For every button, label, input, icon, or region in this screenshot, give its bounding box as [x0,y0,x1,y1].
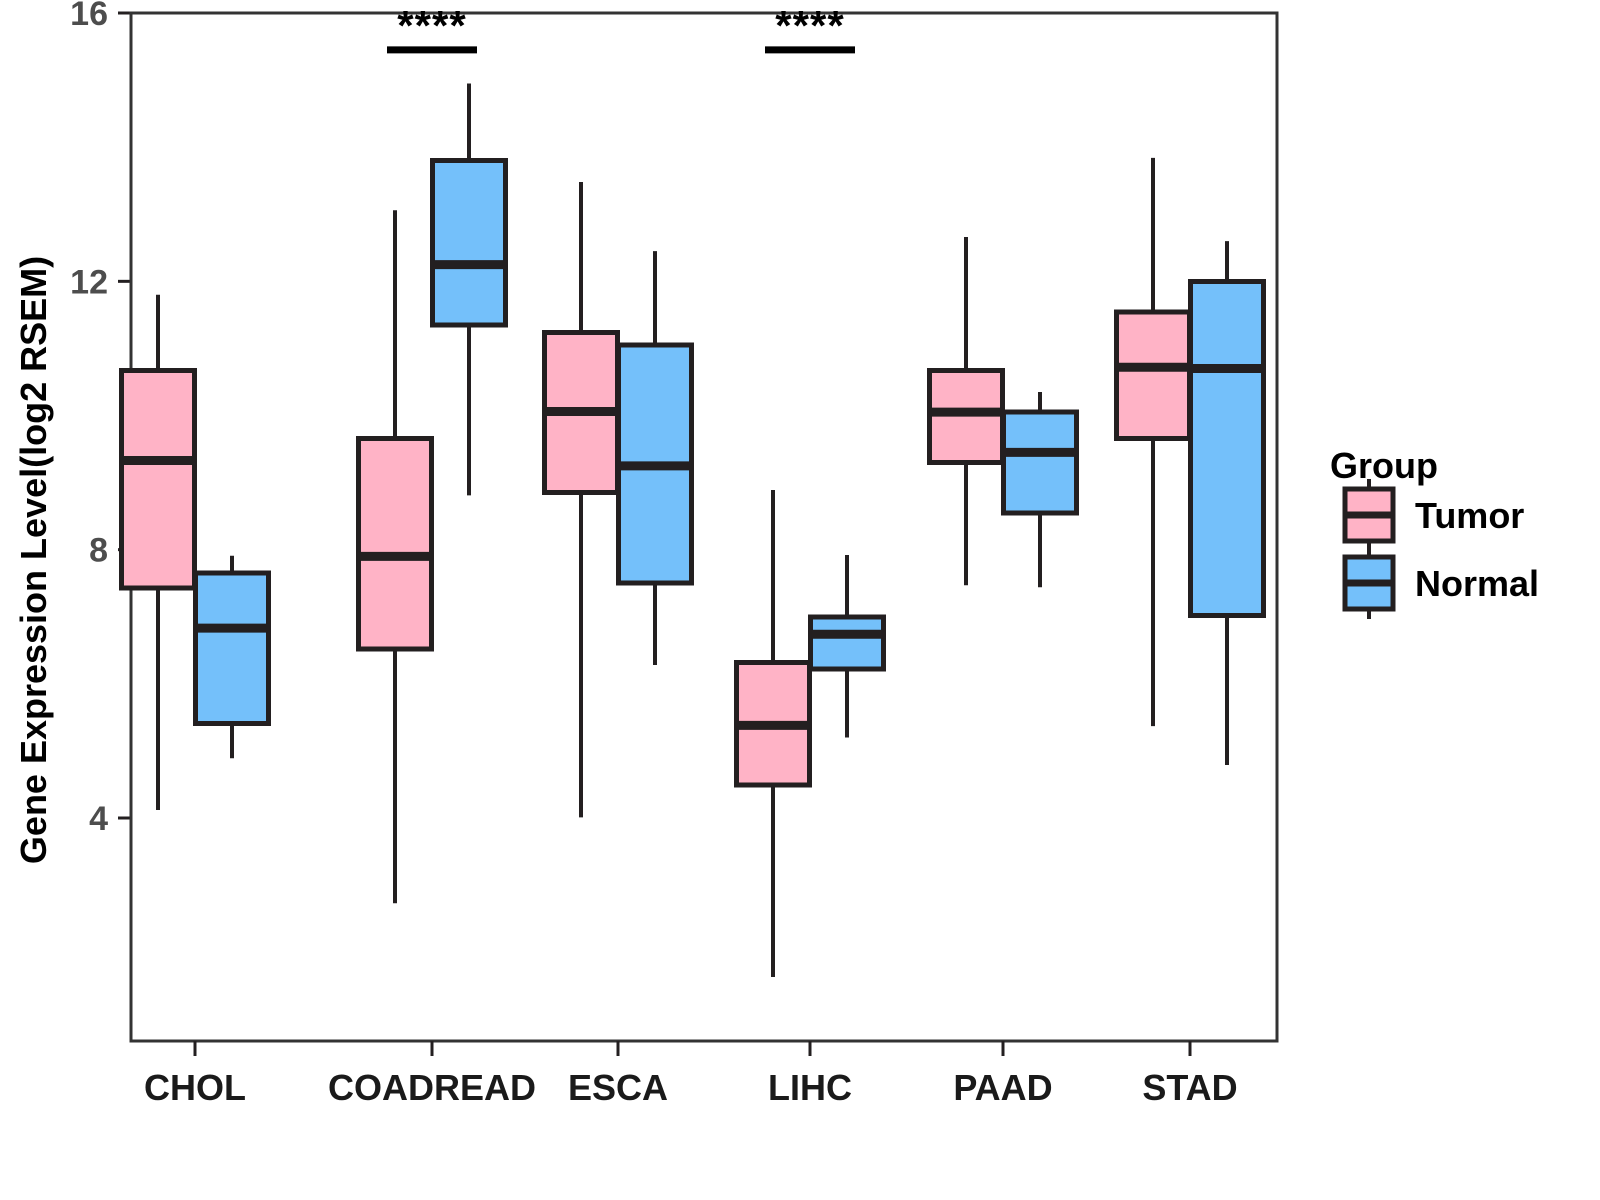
significance-annotations-layer: ******** [387,2,855,50]
box-rect [1191,281,1264,615]
legend-item-normal[interactable]: Normal [1345,547,1539,619]
legend-item-tumor[interactable]: Tumor [1345,479,1524,551]
boxplot-tumor-paad [930,237,1003,585]
chart-canvas: Gene Expression Level(log2 RSEM) 161284 … [0,0,1600,1200]
boxplot-figure: Gene Expression Level(log2 RSEM) 161284 … [0,0,1600,1200]
box-rect [811,617,884,669]
boxplot-normal-lihc [811,555,884,737]
box-rect [1004,412,1077,513]
significance-label: **** [775,2,844,49]
boxplot-normal-chol [196,556,269,759]
legend-title: Group [1330,445,1438,486]
boxplot-tumor-coadread [359,210,432,903]
x-tick-label-stad: STAD [1142,1067,1237,1108]
box-rect [1117,312,1190,438]
box-rect [359,438,432,649]
box-rect [433,161,506,325]
boxplot-tumor-esca [545,182,618,817]
x-tick-label-chol: CHOL [144,1067,246,1108]
boxplot-tumor-stad [1117,158,1190,726]
x-tick-label-esca: ESCA [568,1067,668,1108]
y-tick-label: 12 [70,263,108,301]
boxplot-series-layer [122,83,1264,977]
boxplot-normal-coadread [433,83,506,495]
y-tick-label: 16 [70,0,108,33]
box-rect [196,573,269,723]
boxplot-normal-esca [619,251,692,665]
boxplot-tumor-lihc [737,490,810,977]
legend: Group TumorNormal [1330,445,1539,619]
x-axis-ticks: CHOLCOADREADESCALIHCPAADSTAD [144,1041,1238,1108]
significance-label: **** [397,2,466,49]
x-tick-label-paad: PAAD [953,1067,1052,1108]
y-tick-label: 4 [89,800,108,838]
legend-item-label: Tumor [1415,495,1524,536]
y-axis-title: Gene Expression Level(log2 RSEM) [13,256,54,864]
x-tick-label-lihc: LIHC [768,1067,852,1108]
x-tick-label-coadread: COADREAD [328,1067,536,1108]
box-rect [122,371,195,588]
boxplot-normal-paad [1004,392,1077,587]
legend-item-label: Normal [1415,563,1539,604]
y-tick-label: 8 [89,532,108,570]
plot-panel-border [131,13,1277,1041]
boxplot-normal-stad [1191,241,1264,765]
